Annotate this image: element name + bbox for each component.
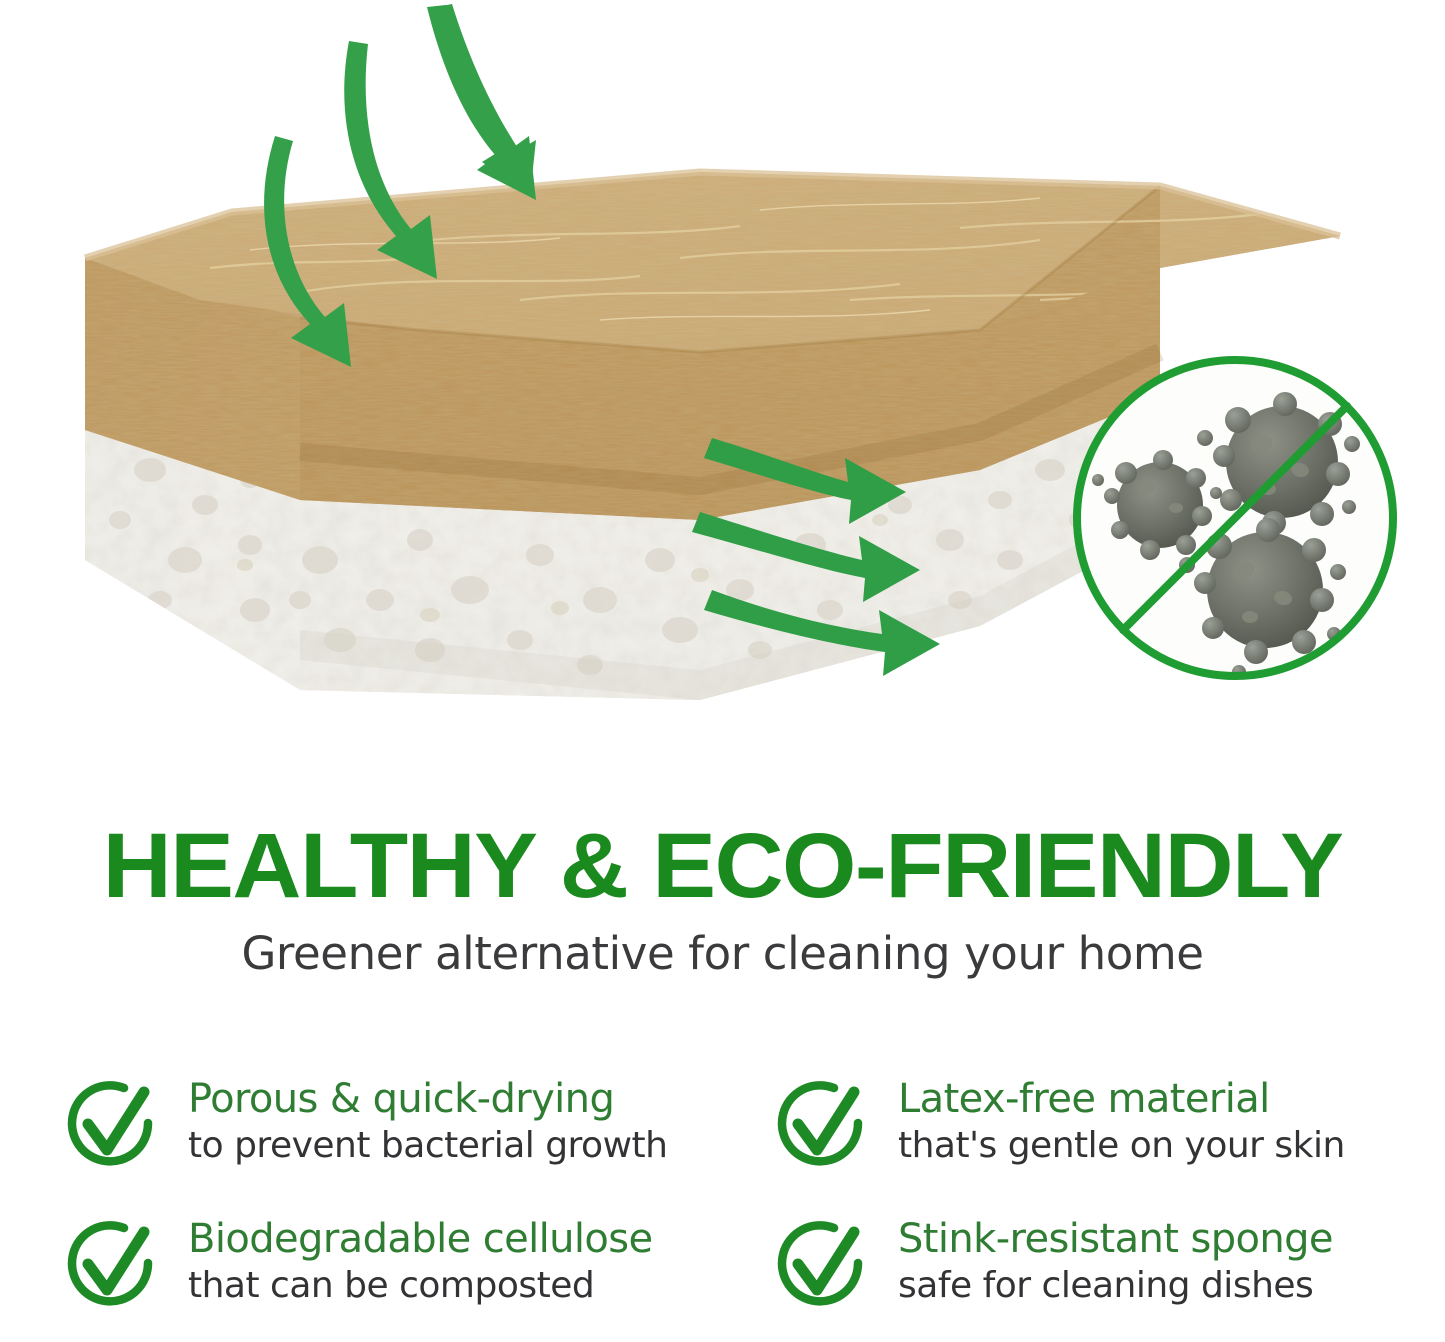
feature-item-stink-resistant: Stink-resistant sponge safe for cleaning… — [710, 1212, 1445, 1342]
check-circle-icon — [62, 1074, 164, 1176]
feature-subtitle: that's gentle on your skin — [898, 1124, 1345, 1168]
feature-text: Stink-resistant sponge safe for cleaning… — [898, 1212, 1333, 1308]
feature-text: Latex-free material that's gentle on you… — [898, 1072, 1345, 1168]
page-subtitle: Greener alternative for cleaning your ho… — [0, 928, 1445, 980]
hero-product-image — [0, 0, 1445, 800]
feature-item-biodegradable-cellulose: Biodegradable cellulose that can be comp… — [0, 1212, 710, 1342]
product-infographic: HEALTHY & ECO-FRIENDLY Greener alternati… — [0, 0, 1445, 1342]
page-title: HEALTHY & ECO-FRIENDLY — [0, 818, 1445, 914]
feature-text: Biodegradable cellulose that can be comp… — [188, 1212, 653, 1308]
feature-subtitle: that can be composted — [188, 1264, 653, 1308]
feature-item-latex-free: Latex-free material that's gentle on you… — [710, 1072, 1445, 1212]
feature-grid: Porous & quick-drying to prevent bacteri… — [0, 1072, 1445, 1342]
feature-text: Porous & quick-drying to prevent bacteri… — [188, 1072, 667, 1168]
check-circle-icon — [772, 1074, 874, 1176]
feature-title: Biodegradable cellulose — [188, 1216, 653, 1262]
no-bacteria-badge — [1077, 360, 1393, 679]
check-circle-icon — [772, 1214, 874, 1316]
check-circle-icon — [62, 1214, 164, 1316]
feature-item-porous-quick-drying: Porous & quick-drying to prevent bacteri… — [0, 1072, 710, 1212]
sponge-cutaway-illustration — [0, 0, 1445, 800]
feature-subtitle: safe for cleaning dishes — [898, 1264, 1333, 1308]
headline-block: HEALTHY & ECO-FRIENDLY Greener alternati… — [0, 818, 1445, 980]
feature-title: Stink-resistant sponge — [898, 1216, 1333, 1262]
feature-title: Latex-free material — [898, 1076, 1345, 1122]
feature-title: Porous & quick-drying — [188, 1076, 667, 1122]
feature-subtitle: to prevent bacterial growth — [188, 1124, 667, 1168]
